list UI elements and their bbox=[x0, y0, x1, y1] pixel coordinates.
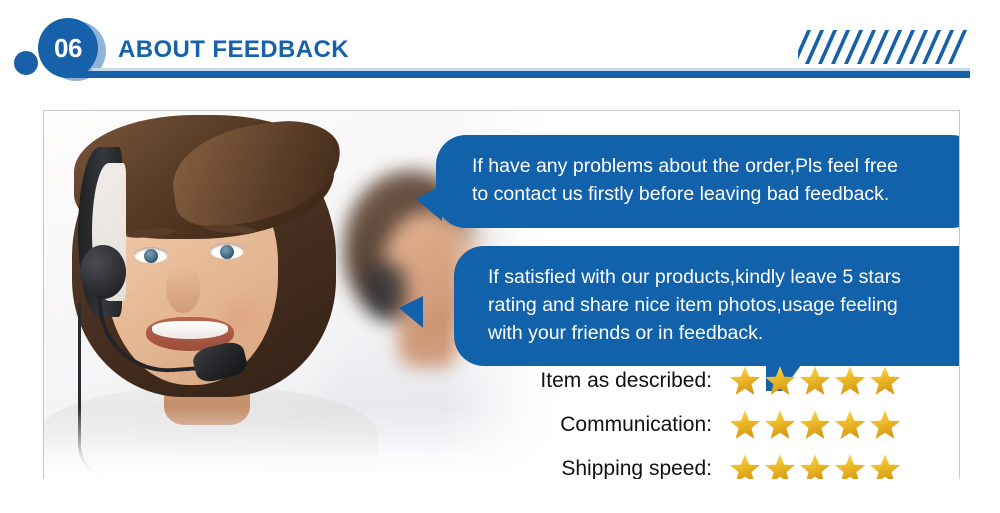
rating-label: Communication: bbox=[532, 413, 728, 437]
ratings-list: Item as described:Communication:Shipping… bbox=[532, 359, 952, 480]
circle-dot-icon bbox=[14, 51, 38, 75]
star-icon bbox=[798, 452, 832, 480]
agent-iris-right bbox=[220, 245, 234, 259]
star-icon bbox=[868, 452, 902, 480]
rating-row: Communication: bbox=[532, 403, 952, 447]
headset-earcup-icon bbox=[80, 245, 126, 299]
speech-bubble-satisfied: If satisfied with our products,kindly le… bbox=[454, 246, 960, 366]
feedback-panel: If have any problems about the order,Pls… bbox=[43, 110, 960, 480]
section-header: 06 ABOUT FEEDBACK bbox=[0, 0, 1000, 100]
bubble-2-tail-left bbox=[399, 296, 423, 328]
star-icon bbox=[868, 364, 902, 398]
agent-eye-right bbox=[210, 243, 244, 259]
section-number-badge: 06 bbox=[38, 18, 98, 78]
rating-stars bbox=[728, 364, 902, 398]
rating-row: Item as described: bbox=[532, 359, 952, 403]
rating-stars bbox=[728, 408, 902, 442]
rating-label: Item as described: bbox=[532, 369, 728, 393]
rating-label: Shipping speed: bbox=[532, 457, 728, 480]
header-slash-decoration bbox=[798, 30, 970, 64]
speech-bubble-problems: If have any problems about the order,Pls… bbox=[436, 135, 960, 228]
star-icon bbox=[798, 364, 832, 398]
star-icon bbox=[728, 408, 762, 442]
star-icon bbox=[833, 408, 867, 442]
star-icon bbox=[728, 364, 762, 398]
agent-eye-left bbox=[134, 247, 168, 263]
section-number-label: 06 bbox=[54, 35, 82, 61]
star-icon bbox=[798, 408, 832, 442]
star-icon bbox=[763, 364, 797, 398]
agent-iris-left bbox=[144, 249, 158, 263]
speech-bubble-satisfied-text: If satisfied with our products,kindly le… bbox=[488, 263, 960, 347]
rating-stars bbox=[728, 452, 902, 480]
bottom-strip bbox=[0, 479, 1000, 513]
photo-fade-bottom bbox=[44, 407, 564, 477]
star-icon bbox=[728, 452, 762, 480]
star-icon bbox=[833, 452, 867, 480]
rating-row: Shipping speed: bbox=[532, 447, 952, 480]
star-icon bbox=[833, 364, 867, 398]
header-rule-thick bbox=[82, 71, 970, 78]
page-title: ABOUT FEEDBACK bbox=[118, 36, 349, 64]
star-icon bbox=[763, 452, 797, 480]
star-icon bbox=[868, 408, 902, 442]
star-icon bbox=[763, 408, 797, 442]
speech-bubble-problems-text: If have any problems about the order,Pls… bbox=[472, 152, 960, 208]
